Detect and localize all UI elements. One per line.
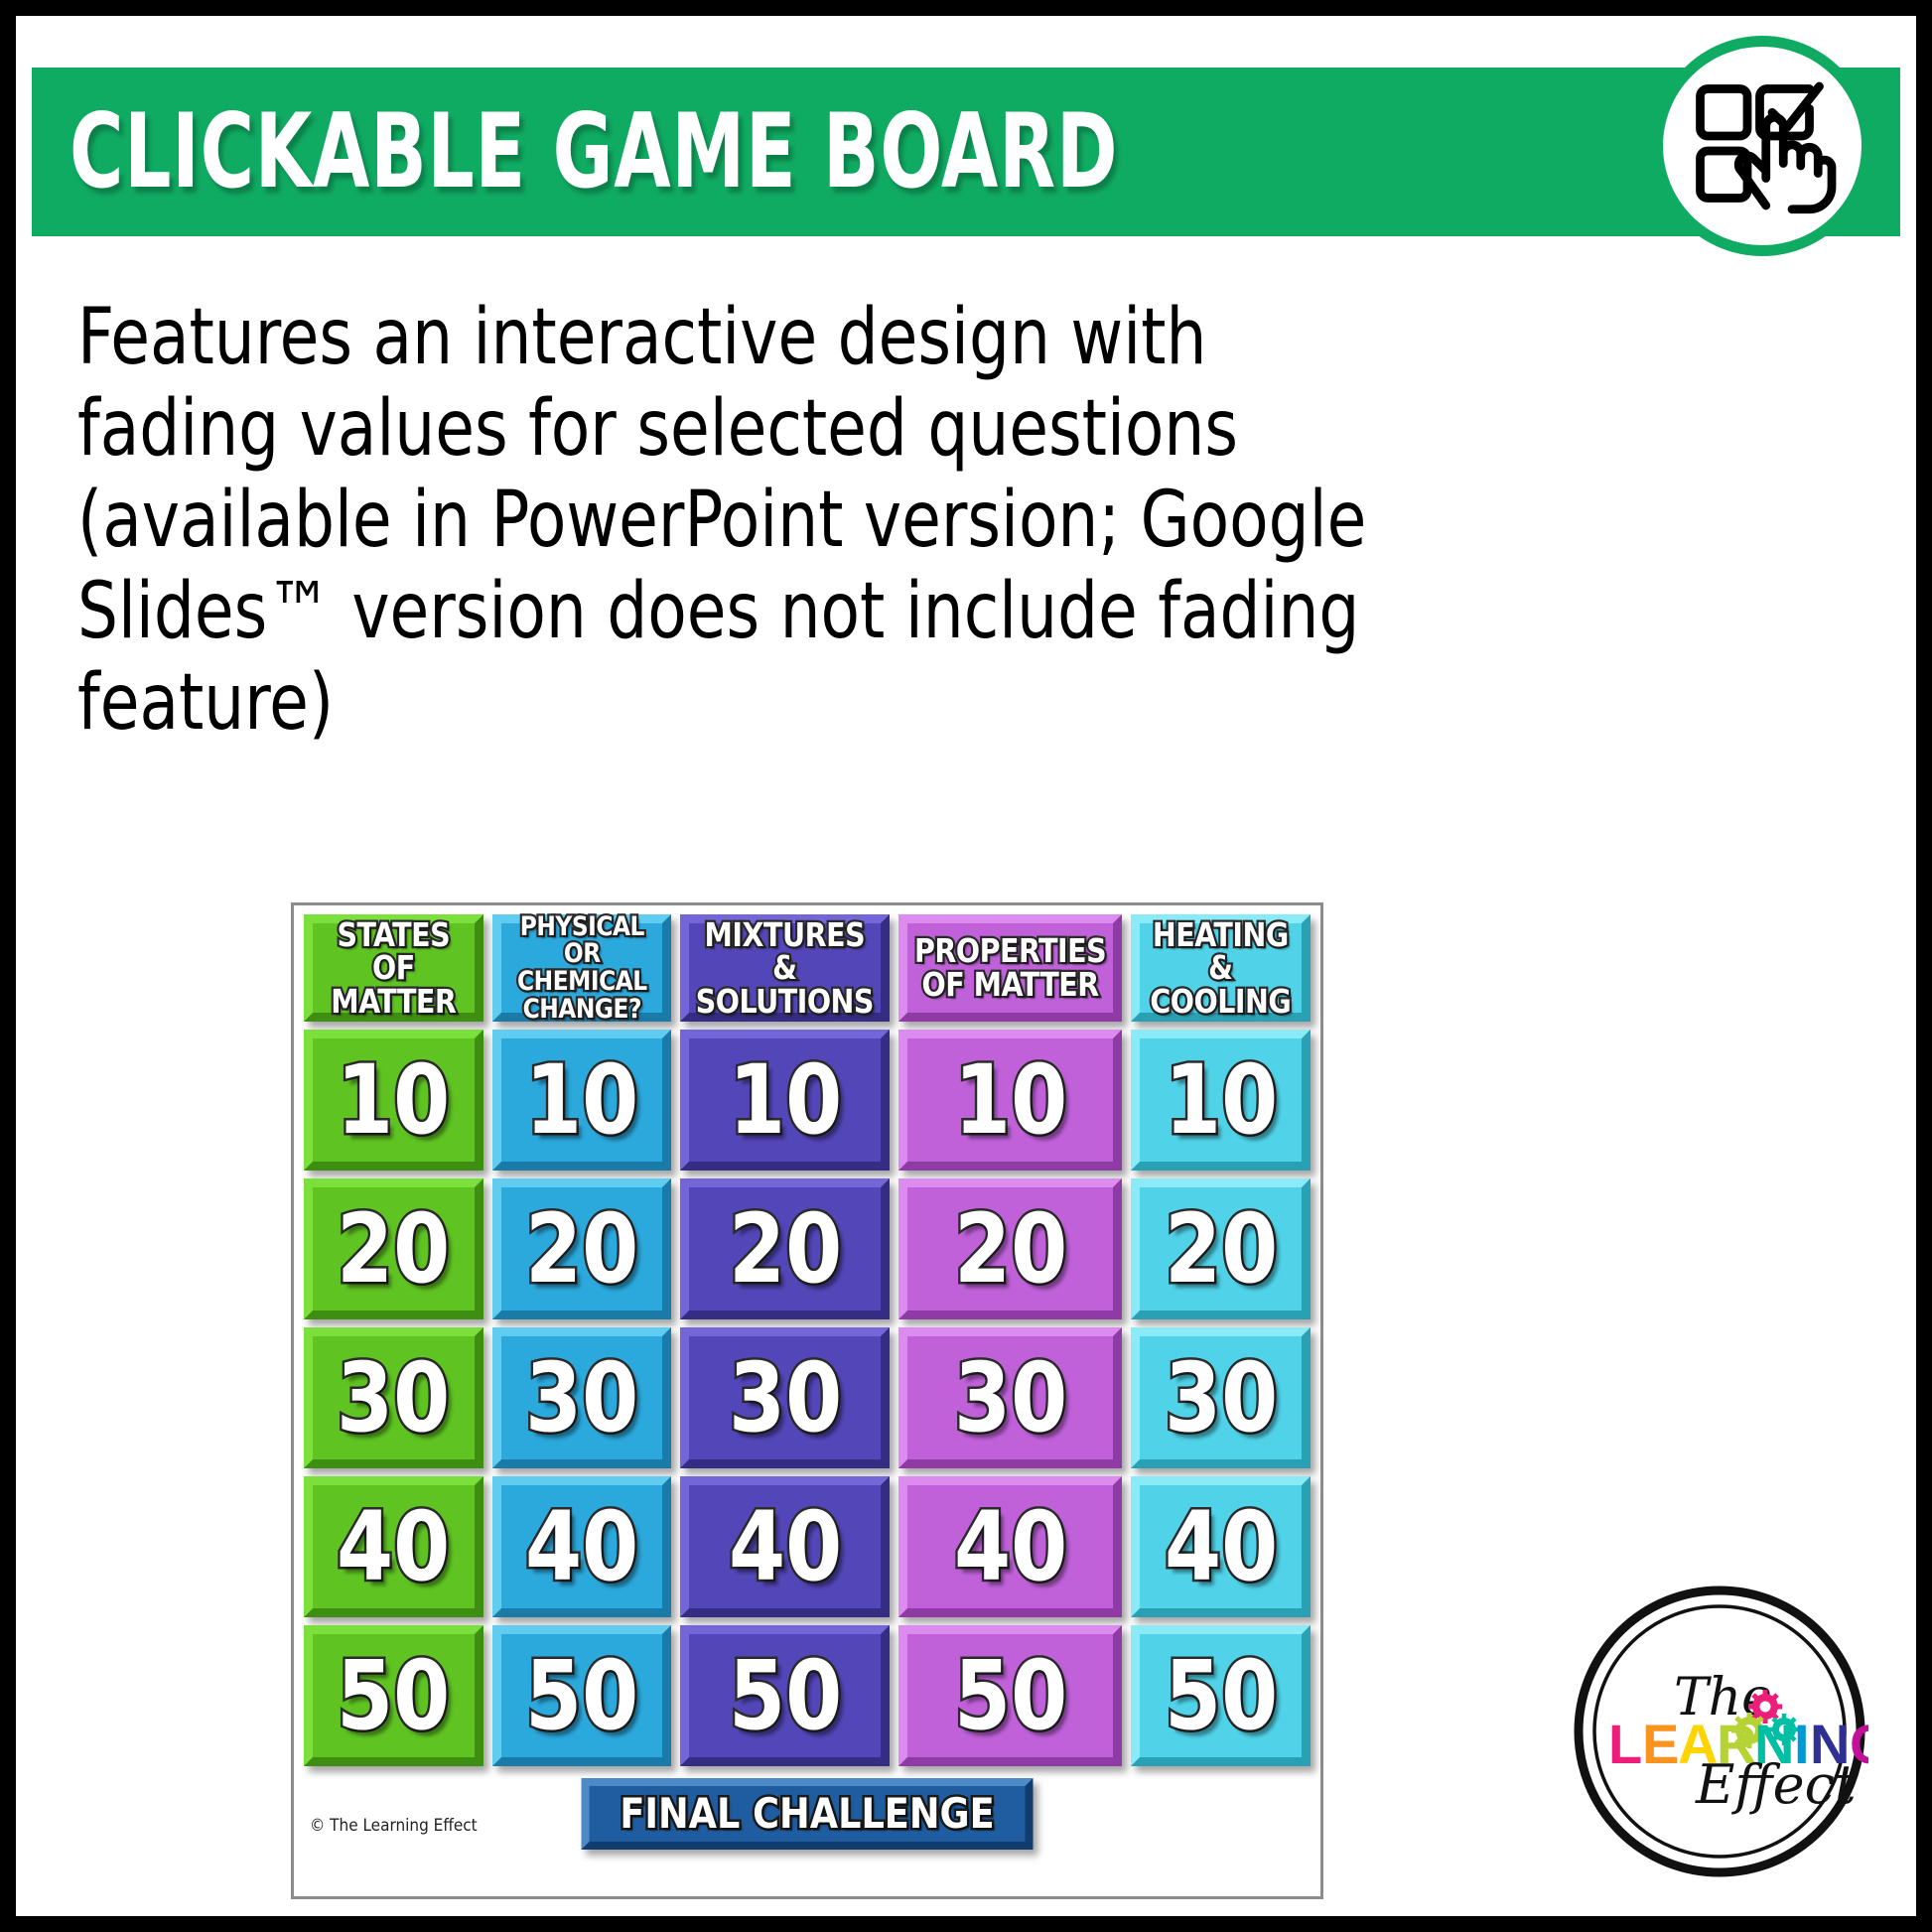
- final-challenge-label: FINAL CHALLENGE: [620, 1793, 994, 1835]
- value-tile-physical-or-chemical-change-20[interactable]: 20: [492, 1178, 672, 1319]
- description-paragraph: Features an interactive design with fadi…: [77, 292, 1402, 749]
- brand-letter-1: E: [1642, 1713, 1679, 1775]
- brand-effect-text: Effect: [1695, 1753, 1857, 1816]
- value-tile-properties-of-matter-40[interactable]: 40: [898, 1476, 1122, 1617]
- value-label: 10: [729, 1052, 842, 1148]
- value-tile-physical-or-chemical-change-50[interactable]: 50: [492, 1625, 672, 1766]
- value-label: 10: [337, 1052, 450, 1148]
- category-label: STATES OF MATTER: [319, 918, 468, 1019]
- value-label: 50: [525, 1648, 638, 1743]
- value-label: 30: [1165, 1350, 1278, 1446]
- value-label: 20: [525, 1201, 638, 1297]
- value-label: 40: [729, 1499, 842, 1594]
- brand-letter-0: L: [1608, 1713, 1642, 1775]
- value-label: 50: [954, 1648, 1067, 1743]
- value-label: 20: [729, 1201, 842, 1297]
- value-tile-heating-and-cooling-30[interactable]: 30: [1131, 1327, 1311, 1468]
- game-board: STATES OF MATTER PHYSICAL OR CHEMICAL CH…: [291, 902, 1323, 1899]
- copyright-notice: © The Learning Effect: [310, 1816, 478, 1836]
- value-label: 30: [954, 1350, 1067, 1446]
- category-label: PROPERTIES OF MATTER: [914, 934, 1106, 1001]
- value-label: 40: [1165, 1499, 1278, 1594]
- category-label: HEATING & COOLING: [1146, 918, 1295, 1019]
- value-tile-properties-of-matter-10[interactable]: 10: [898, 1030, 1122, 1171]
- value-label: 30: [729, 1350, 842, 1446]
- value-tile-physical-or-chemical-change-40[interactable]: 40: [492, 1476, 672, 1617]
- clickable-checklist-hand-icon: [1652, 36, 1872, 256]
- brand-logo-the-learning-effect: The: [1571, 1583, 1868, 1880]
- value-tile-properties-of-matter-30[interactable]: 30: [898, 1327, 1122, 1468]
- value-label: 50: [1165, 1648, 1278, 1743]
- game-board-grid: STATES OF MATTER PHYSICAL OR CHEMICAL CH…: [304, 914, 1311, 1766]
- value-label: 50: [337, 1648, 450, 1743]
- value-tile-states-of-matter-50[interactable]: 50: [304, 1625, 483, 1766]
- value-label: 40: [525, 1499, 638, 1594]
- value-tile-heating-and-cooling-10[interactable]: 10: [1131, 1030, 1311, 1171]
- value-tile-mixtures-and-solutions-10[interactable]: 10: [680, 1030, 890, 1171]
- header-banner: CLICKABLE GAME BOARD: [32, 68, 1900, 236]
- value-tile-heating-and-cooling-20[interactable]: 20: [1131, 1178, 1311, 1319]
- slide-canvas: CLICKABLE GAME BOARD Features an interac…: [0, 0, 1932, 1932]
- value-tile-heating-and-cooling-50[interactable]: 50: [1131, 1625, 1311, 1766]
- value-label: 10: [525, 1052, 638, 1148]
- category-header-heating-and-cooling[interactable]: HEATING & COOLING: [1131, 914, 1311, 1022]
- value-tile-states-of-matter-10[interactable]: 10: [304, 1030, 483, 1171]
- category-header-mixtures-and-solutions[interactable]: MIXTURES & SOLUTIONS: [680, 914, 890, 1022]
- value-tile-states-of-matter-20[interactable]: 20: [304, 1178, 483, 1319]
- category-header-states-of-matter[interactable]: STATES OF MATTER: [304, 914, 483, 1022]
- final-challenge-button[interactable]: FINAL CHALLENGE: [582, 1778, 1034, 1850]
- value-tile-mixtures-and-solutions-40[interactable]: 40: [680, 1476, 890, 1617]
- value-label: 20: [1165, 1201, 1278, 1297]
- value-label: 40: [954, 1499, 1067, 1594]
- category-label: PHYSICAL OR CHEMICAL CHANGE?: [507, 913, 656, 1023]
- board-footer: © The Learning Effect FINAL CHALLENGE: [304, 1774, 1311, 1869]
- value-tile-heating-and-cooling-40[interactable]: 40: [1131, 1476, 1311, 1617]
- value-label: 40: [337, 1499, 450, 1594]
- value-tile-mixtures-and-solutions-30[interactable]: 30: [680, 1327, 890, 1468]
- header-icon-badge: [1652, 36, 1872, 256]
- value-tile-mixtures-and-solutions-20[interactable]: 20: [680, 1178, 890, 1319]
- value-label: 30: [337, 1350, 450, 1446]
- value-label: 50: [729, 1648, 842, 1743]
- value-tile-properties-of-matter-50[interactable]: 50: [898, 1625, 1122, 1766]
- value-tile-physical-or-chemical-change-10[interactable]: 10: [492, 1030, 672, 1171]
- page-title: CLICKABLE GAME BOARD: [69, 101, 1118, 204]
- value-label: 20: [337, 1201, 450, 1297]
- value-label: 30: [525, 1350, 638, 1446]
- category-header-physical-or-chemical-change[interactable]: PHYSICAL OR CHEMICAL CHANGE?: [492, 914, 672, 1022]
- category-label: MIXTURES & SOLUTIONS: [696, 918, 874, 1019]
- value-tile-states-of-matter-30[interactable]: 30: [304, 1327, 483, 1468]
- value-label: 10: [1165, 1052, 1278, 1148]
- value-label: 20: [954, 1201, 1067, 1297]
- value-tile-properties-of-matter-20[interactable]: 20: [898, 1178, 1122, 1319]
- value-label: 10: [954, 1052, 1067, 1148]
- value-tile-physical-or-chemical-change-30[interactable]: 30: [492, 1327, 672, 1468]
- value-tile-states-of-matter-40[interactable]: 40: [304, 1476, 483, 1617]
- value-tile-mixtures-and-solutions-50[interactable]: 50: [680, 1625, 890, 1766]
- category-header-properties-of-matter[interactable]: PROPERTIES OF MATTER: [898, 914, 1122, 1022]
